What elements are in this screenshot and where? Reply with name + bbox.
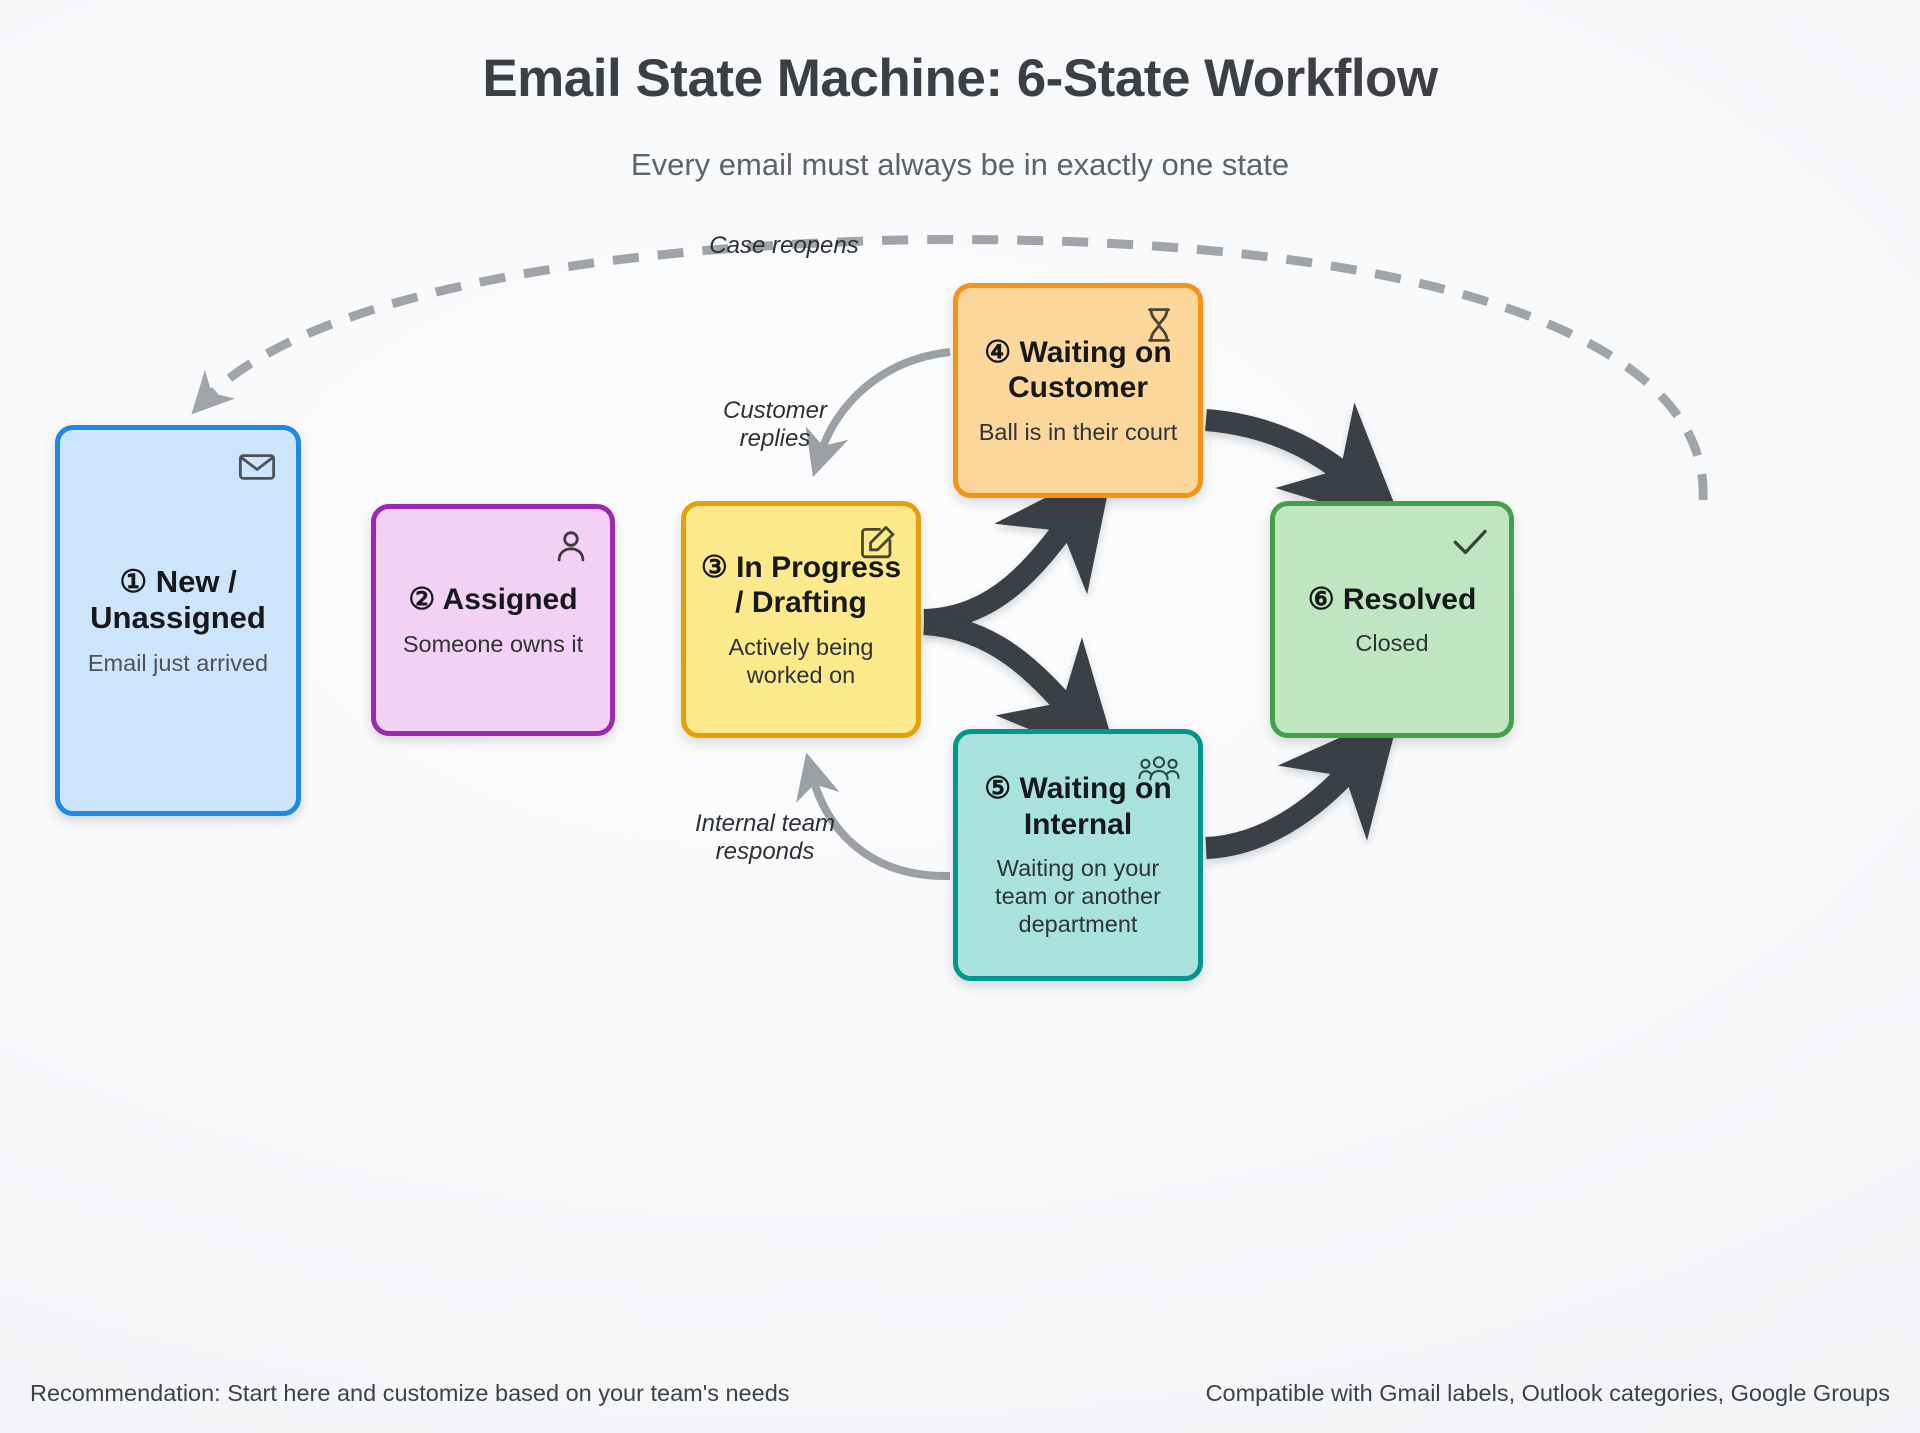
diagram-canvas: Email State Machine: 6-State Workflow Ev… [0,0,1920,1433]
state-title-line2: Unassigned [90,600,266,637]
state-title-line1: ② Assigned [408,582,577,617]
people-group-icon [1138,750,1180,792]
hourglass-icon [1138,304,1180,346]
state-box-new-unassigned[interactable]: ① New / Unassigned Email just arrived [55,425,301,816]
state-title-line2: Internal [984,807,1171,842]
envelope-icon [236,446,278,488]
person-icon [550,525,592,567]
state-title: ⑥ Resolved [1294,582,1491,617]
arrow-inprogress-to-waitinginternal [924,624,1080,722]
state-box-waiting-on-customer[interactable]: ④ Waiting on Customer Ball is in their c… [953,283,1203,498]
state-description: Actively being worked on [686,633,916,689]
footer-recommendation: Recommendation: Start here and customize… [30,1380,790,1407]
pencil-square-icon [856,522,898,564]
state-description: Email just arrived [70,649,286,677]
state-description: Waiting on your team or another departme… [958,854,1198,939]
edge-label-case-reopens: Case reopens [660,232,908,260]
check-icon [1449,522,1491,564]
state-title-line2: / Drafting [701,585,901,620]
arrow-waitingcustomer-to-resolved [1206,420,1360,487]
state-box-assigned[interactable]: ② Assigned Someone owns it [371,504,615,736]
state-title-line1: ⑥ Resolved [1308,582,1477,617]
state-title-line2: Customer [984,370,1171,405]
state-description: Closed [1337,629,1446,657]
state-description: Someone owns it [385,630,601,658]
state-box-in-progress-drafting[interactable]: ③ In Progress / Drafting Actively being … [681,501,921,738]
state-title-line1: ① New / [90,564,266,601]
state-title: ② Assigned [394,582,591,617]
state-box-waiting-on-internal[interactable]: ⑤ Waiting on Internal Waiting on your te… [953,729,1203,981]
edge-label-customer-replies: Customer replies [660,397,890,453]
state-box-resolved[interactable]: ⑥ Resolved Closed [1270,501,1514,738]
arrow-inprogress-to-waitingcustomer [924,510,1078,620]
footer-compatibility: Compatible with Gmail labels, Outlook ca… [1206,1380,1890,1407]
state-description: Ball is in their court [961,418,1196,446]
edge-label-internal-team-responds: Internal team responds [640,810,890,866]
arrow-waitinginternal-to-resolved [1206,756,1362,848]
state-title: ① New / Unassigned [76,564,280,637]
